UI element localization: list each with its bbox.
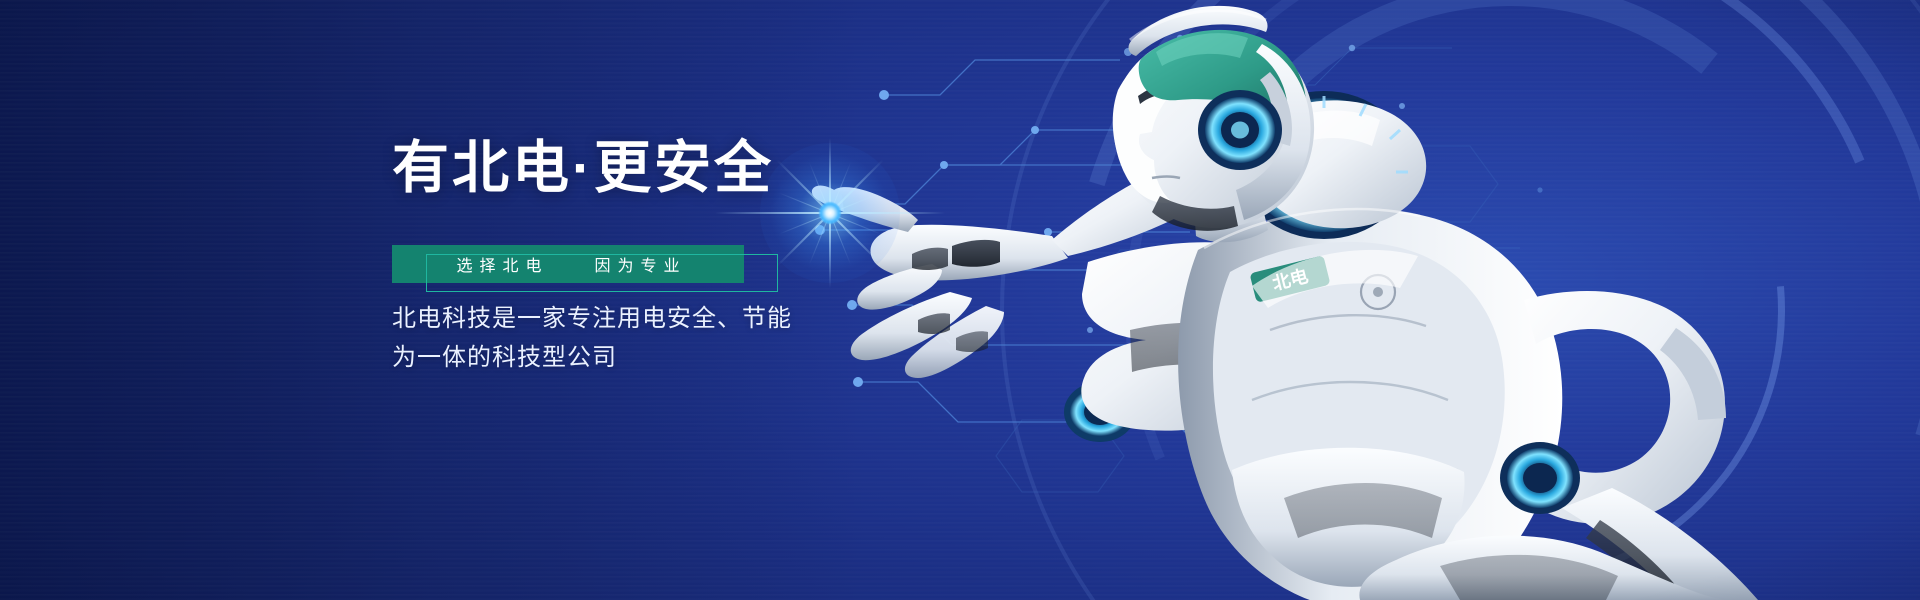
description-line-2: 为一体的科技型公司 bbox=[392, 339, 792, 378]
hero-banner: 北电 bbox=[0, 0, 1920, 600]
slogan-badge: 选择北电 因为专业 bbox=[392, 245, 752, 295]
background-vignette bbox=[0, 0, 1920, 600]
slogan-badge-label: 选择北电 因为专业 bbox=[449, 252, 686, 276]
description-line-1: 北电科技是一家专注用电安全、节能 bbox=[392, 300, 792, 339]
slogan-badge-fill: 选择北电 因为专业 bbox=[392, 245, 744, 283]
company-description: 北电科技是一家专注用电安全、节能 为一体的科技型公司 bbox=[392, 300, 792, 378]
page-title: 有北电·更安全 bbox=[392, 136, 774, 202]
banner-text-block: 有北电·更安全 选择北电 因为专业 北电科技是一家专注用电安全、节能 为一体的科… bbox=[392, 0, 872, 600]
